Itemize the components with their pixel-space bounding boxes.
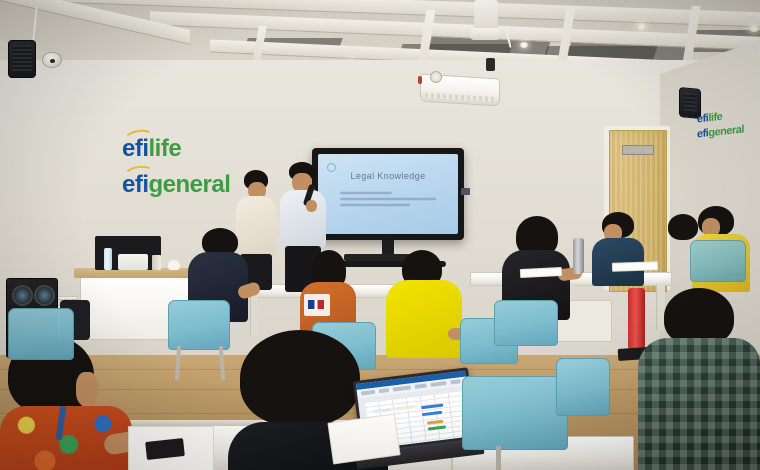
attendee-yellow-blazer xyxy=(386,250,462,360)
dome-security-camera-icon xyxy=(42,52,62,68)
teal-chair[interactable] xyxy=(8,308,74,360)
ceiling-speaker-icon xyxy=(8,40,36,78)
attendee-plaid-shirt xyxy=(638,288,760,470)
tissue-box xyxy=(118,254,148,270)
teal-chair[interactable] xyxy=(556,358,610,416)
slide-body-line xyxy=(340,192,392,194)
logo-prefix: efi xyxy=(122,171,149,198)
blue-water-bottle xyxy=(104,248,112,270)
ceiling-light xyxy=(749,25,759,32)
logo-suffix: life xyxy=(149,135,182,162)
torso xyxy=(280,190,326,248)
slide-title: Legal Knowledge xyxy=(318,171,458,181)
logo-suffix: general xyxy=(149,171,231,198)
ceiling-light xyxy=(637,23,646,30)
shirt-graphic-flag xyxy=(308,300,324,309)
ceiling-duct xyxy=(470,28,500,40)
attendee-head xyxy=(668,214,698,240)
fire-alarm-icon xyxy=(430,71,442,83)
hand xyxy=(306,200,317,212)
fire-alarm-light xyxy=(418,76,422,84)
silver-flask xyxy=(573,238,584,274)
cup xyxy=(168,260,180,270)
teal-chair[interactable] xyxy=(690,240,746,282)
door-sign xyxy=(622,145,654,155)
ceiling-light xyxy=(520,42,528,48)
logo-prefix: efi xyxy=(122,135,149,162)
chair-leg xyxy=(496,446,501,470)
attendee-blue-shirt xyxy=(592,212,644,286)
logo-suffix: life xyxy=(708,111,722,124)
teal-chair[interactable] xyxy=(494,300,558,346)
face xyxy=(76,372,98,406)
torso xyxy=(386,280,462,358)
torso xyxy=(638,338,760,470)
display-side-button[interactable] xyxy=(461,188,470,195)
slide-body-line xyxy=(340,204,410,206)
hair xyxy=(240,330,360,426)
speaker-tweeter xyxy=(34,285,55,306)
logo-prefix: efi xyxy=(697,127,708,140)
teal-chair[interactable] xyxy=(462,376,568,450)
logo-prefix: efi xyxy=(697,112,708,125)
slide-body-line xyxy=(340,198,436,200)
paper-sheet xyxy=(612,261,658,272)
cup xyxy=(152,255,161,270)
wall-sensor-icon xyxy=(486,58,495,71)
display-screen[interactable]: Legal Knowledge xyxy=(318,154,458,234)
interactive-display[interactable]: Legal Knowledge xyxy=(312,148,464,240)
teal-chair[interactable] xyxy=(168,300,230,350)
wall-logo-secondary: efilife efigeneral xyxy=(697,110,744,141)
photo-scene: efilife efigeneral efilife efigeneral Le… xyxy=(0,0,760,470)
speaker-tweeter xyxy=(12,285,33,306)
